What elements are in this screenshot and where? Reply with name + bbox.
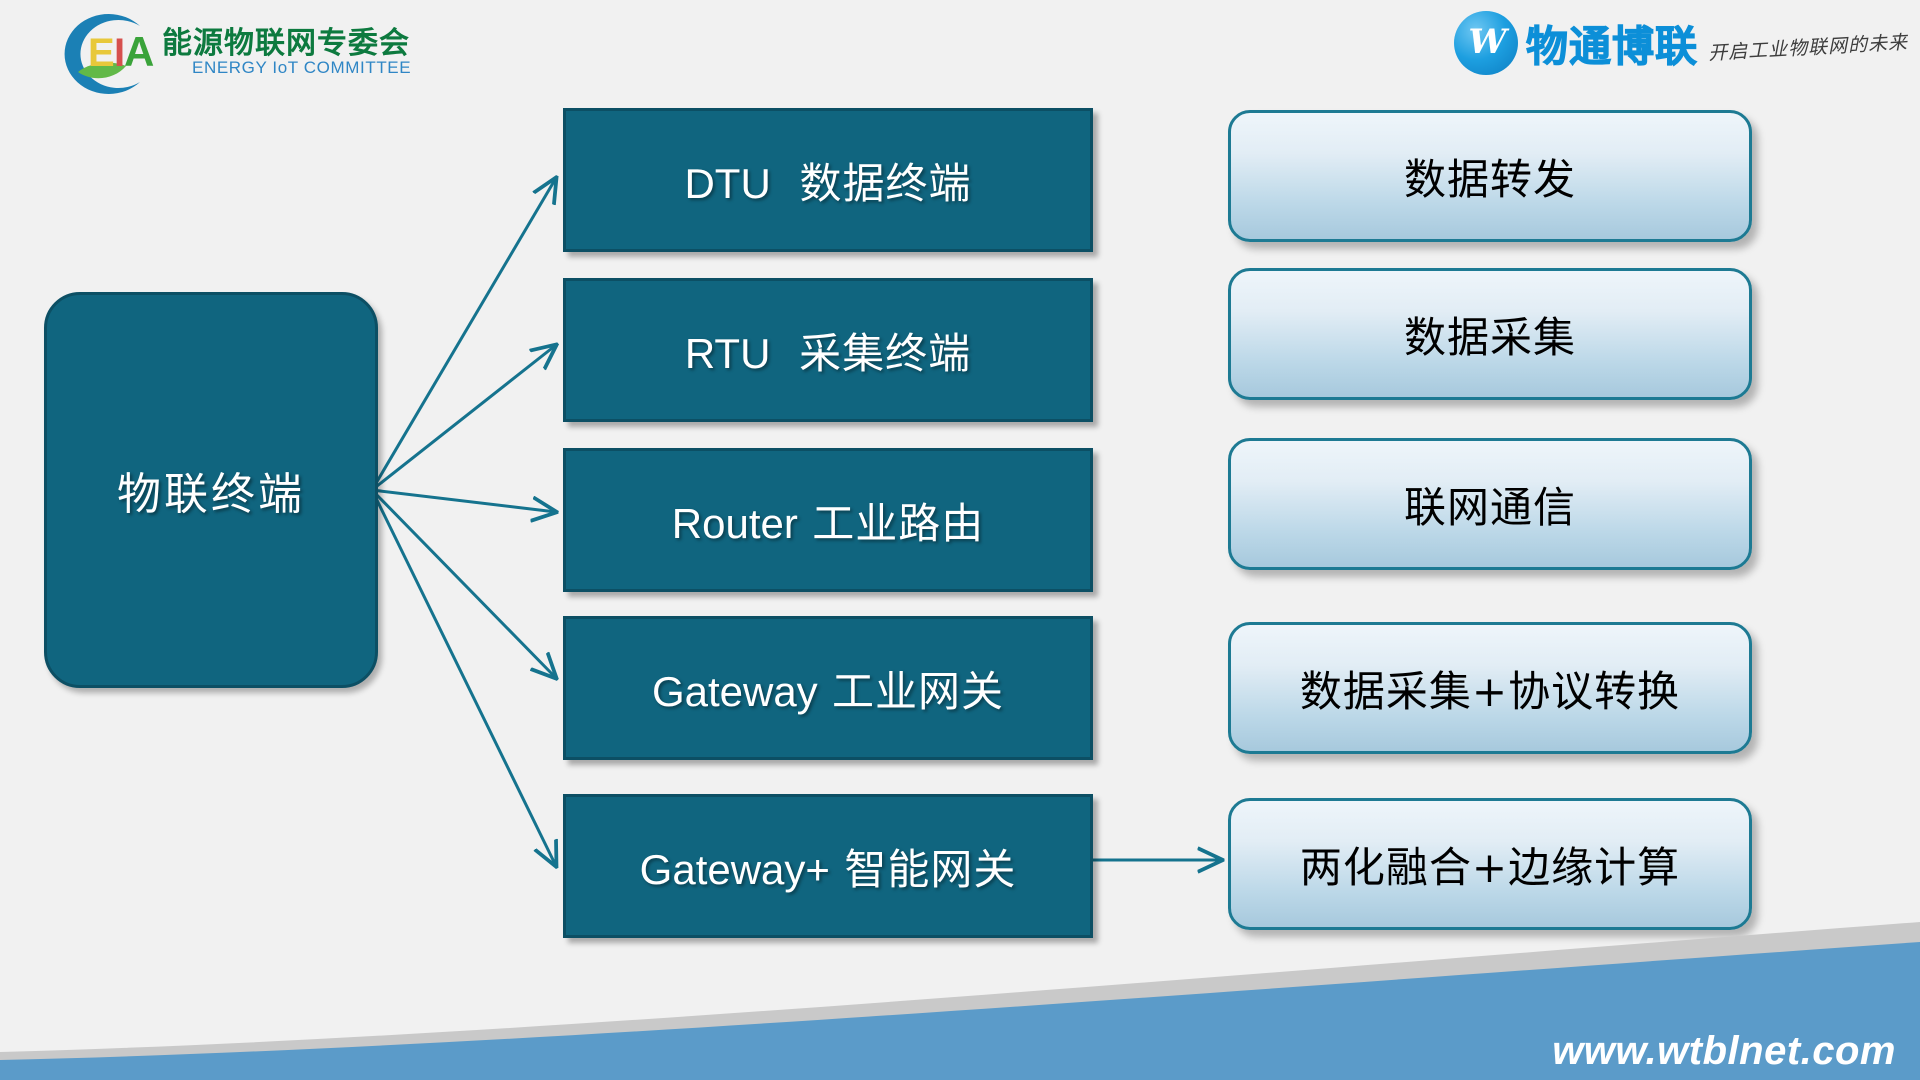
function-box-network-label: 联网通信 [1404, 474, 1576, 535]
device-box-gateway-cn: 工业网关 [832, 667, 1004, 716]
eia-logo: E I A 能源物联网专委会 ENERGY IoT COMMITTEE [44, 10, 424, 98]
device-box-gateway[interactable]: Gateway 工业网关 [563, 616, 1093, 760]
source-node-label: 物联终端 [117, 458, 305, 522]
device-box-gatewayplus-cn: 智能网关 [844, 845, 1016, 894]
device-box-router[interactable]: Router 工业路由 [563, 448, 1093, 592]
device-box-dtu-label: DTU 数据终端 [684, 150, 971, 211]
source-node-iot-terminal[interactable]: 物联终端 [44, 292, 378, 688]
device-box-router-label: Router 工业路由 [672, 490, 984, 551]
device-box-gatewayplus-label: Gateway+ 智能网关 [640, 836, 1017, 897]
wtb-logo-tagline: 开启工业物联网的未来 [1707, 27, 1908, 65]
function-box-network[interactable]: 联网通信 [1228, 438, 1752, 570]
footer-website-url: www.wtblnet.com [1552, 1029, 1896, 1074]
wtb-badge-glyph: W [1454, 22, 1518, 62]
device-box-dtu-latin: DTU [684, 160, 770, 207]
device-box-rtu-cn: 采集终端 [799, 329, 971, 378]
eia-logo-name-cn: 能源物联网专委会 [162, 18, 410, 62]
arrow-source-to-router [372, 490, 556, 512]
arrow-source-to-gatewayplus [372, 490, 556, 866]
device-box-router-latin: Router [672, 500, 798, 547]
svg-text:E: E [88, 31, 115, 75]
function-box-collect-protocol[interactable]: 数据采集+协议转换 [1228, 622, 1752, 754]
function-box-forward-label: 数据转发 [1404, 146, 1576, 207]
function-box-fusion-edge[interactable]: 两化融合+边缘计算 [1228, 798, 1752, 930]
eia-circle-leaf-icon: E I A [44, 10, 162, 98]
device-box-dtu-cn: 数据终端 [800, 159, 972, 208]
device-box-gateway-latin: Gateway [652, 668, 818, 715]
device-box-router-cn: 工业路由 [812, 499, 984, 548]
arrow-source-to-gateway [372, 490, 556, 678]
arrow-source-to-rtu [372, 345, 556, 490]
function-box-collect-label: 数据采集 [1404, 304, 1576, 365]
device-box-dtu[interactable]: DTU 数据终端 [563, 108, 1093, 252]
slide-canvas: E I A 能源物联网专委会 ENERGY IoT COMMITTEE W 物通… [0, 0, 1920, 1080]
function-box-collect[interactable]: 数据采集 [1228, 268, 1752, 400]
wtb-wave-badge-icon: W [1454, 11, 1518, 75]
wtb-logo: W 物通博联 开启工业物联网的未来 [1454, 6, 1908, 80]
svg-text:A: A [124, 28, 154, 75]
device-box-gatewayplus[interactable]: Gateway+ 智能网关 [563, 794, 1093, 938]
device-box-rtu-latin: RTU [685, 330, 771, 377]
function-box-forward[interactable]: 数据转发 [1228, 110, 1752, 242]
device-box-gatewayplus-latin: Gateway+ [640, 846, 830, 893]
eia-logo-name-en: ENERGY IoT COMMITTEE [192, 58, 411, 78]
function-box-fusion-edge-label: 两化融合+边缘计算 [1300, 834, 1680, 895]
device-box-rtu-label: RTU 采集终端 [685, 320, 971, 381]
device-box-rtu[interactable]: RTU 采集终端 [563, 278, 1093, 422]
function-box-collect-protocol-label: 数据采集+协议转换 [1300, 658, 1680, 719]
wtb-logo-name-cn: 物通博联 [1526, 13, 1698, 74]
device-box-gateway-label: Gateway 工业网关 [652, 658, 1004, 719]
arrow-source-to-dtu [372, 178, 556, 490]
